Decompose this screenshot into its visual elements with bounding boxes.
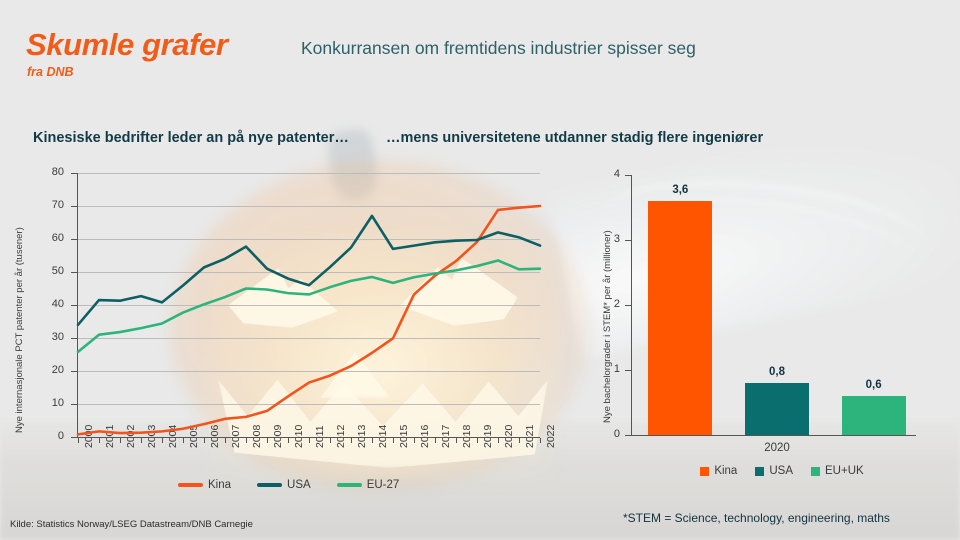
line-chart-y-tick-label: 80 <box>0 166 64 178</box>
line-chart-x-tick <box>183 438 184 443</box>
bar-chart-y-tick-label: 2 <box>596 298 620 310</box>
brand-subtitle: fra DNB <box>27 65 74 79</box>
line-chart-x-tick <box>351 438 352 443</box>
line-chart-y-tick-label: 50 <box>0 265 64 277</box>
line-series-usa <box>78 216 540 325</box>
line-chart-x-tick <box>78 438 79 443</box>
line-chart-x-tick <box>456 438 457 443</box>
line-chart-x-tick <box>99 438 100 443</box>
line-chart-x-tick <box>498 438 499 443</box>
line-chart-x-tick <box>141 438 142 443</box>
bar-value-label: 3,6 <box>648 184 712 196</box>
line-chart-x-tick <box>246 438 247 443</box>
bar-chart-legend: KinaUSAEU+UK <box>632 465 932 477</box>
line-legend-item-usa[interactable]: USA <box>257 479 311 491</box>
legend-swatch-icon <box>811 467 820 476</box>
legend-label: USA <box>287 479 311 491</box>
bar-chart-y-tick-label: 1 <box>596 363 620 375</box>
legend-label: USA <box>769 465 793 477</box>
bar-chart-plot-area: 3,60,80,6 <box>632 175 922 435</box>
line-chart-y-tick-label: 70 <box>0 199 64 211</box>
line-chart-x-tick <box>540 438 541 443</box>
line-chart-y-tick-label: 10 <box>0 397 64 409</box>
bar-chart-y-tick-label: 4 <box>596 168 620 180</box>
line-chart-x-tick <box>225 438 226 443</box>
line-legend-item-eu-27[interactable]: EU-27 <box>337 479 400 491</box>
bar-chart-category-label: 2020 <box>632 442 922 454</box>
bar-chart-y-tick-label: 3 <box>596 233 620 245</box>
bar-kina[interactable] <box>648 201 712 435</box>
line-chart-x-tick <box>372 438 373 443</box>
legend-label: EU-27 <box>367 479 400 491</box>
bar-usa[interactable] <box>745 383 809 435</box>
line-chart-legend: KinaUSAEU-27 <box>178 479 399 491</box>
legend-swatch-icon <box>178 483 203 487</box>
line-chart-x-tick <box>414 438 415 443</box>
line-chart-x-tick <box>519 438 520 443</box>
line-chart-x-tick <box>162 438 163 443</box>
bar-chart-y-tick-label: 0 <box>596 428 620 440</box>
line-legend-item-kina[interactable]: Kina <box>178 479 231 491</box>
bar-value-label: 0,6 <box>842 379 906 391</box>
line-chart-y-tick-label: 30 <box>0 331 64 343</box>
line-series-eu-27 <box>78 260 540 351</box>
line-chart-x-tick <box>393 438 394 443</box>
bar-eu-uk[interactable] <box>842 396 906 435</box>
patents-line-chart: Nye internasjonale PCT patenter per år (… <box>0 165 560 515</box>
line-chart-x-tick <box>309 438 310 443</box>
bar-legend-item-eu+uk[interactable]: EU+UK <box>811 465 864 477</box>
bar-value-label: 0,8 <box>745 366 809 378</box>
stem-degrees-bar-chart: Nye bachelorgrader i STEM* per år (milli… <box>596 165 960 515</box>
bar-legend-item-usa[interactable]: USA <box>755 465 793 477</box>
legend-swatch-icon <box>337 483 362 487</box>
line-chart-x-tick <box>267 438 268 443</box>
legend-label: Kina <box>714 465 737 477</box>
header-tagline: Konkurransen om fremtidens industrier sp… <box>301 38 696 59</box>
line-chart-x-axis-line <box>77 437 540 438</box>
legend-label: Kina <box>208 479 231 491</box>
legend-swatch-icon <box>700 467 709 476</box>
line-chart-series-svg <box>78 173 540 437</box>
line-chart-x-tick <box>477 438 478 443</box>
source-note: Kilde: Statistics Norway/LSEG Datastream… <box>10 519 253 530</box>
line-chart-y-tick-label: 60 <box>0 232 64 244</box>
line-chart-x-tick <box>288 438 289 443</box>
bar-legend-item-kina[interactable]: Kina <box>700 465 737 477</box>
subheading-left: Kinesiske bedrifter leder an på nye pate… <box>33 130 349 146</box>
line-chart-y-tick-label: 0 <box>0 430 64 442</box>
bar-chart-x-axis-line <box>631 435 916 436</box>
subheading-right: …mens universitetene utdanner stadig fle… <box>386 130 763 146</box>
line-chart-x-tick <box>204 438 205 443</box>
line-chart-x-tick <box>330 438 331 443</box>
line-chart-x-tick <box>120 438 121 443</box>
legend-label: EU+UK <box>825 465 864 477</box>
legend-swatch-icon <box>755 467 764 476</box>
line-chart-y-tick-label: 40 <box>0 298 64 310</box>
bar-chart-y-axis-title: Nye bachelorgrader i STEM* per år (milli… <box>602 230 613 423</box>
line-chart-y-tick-label: 20 <box>0 364 64 376</box>
stem-footnote: *STEM = Science, technology, engineering… <box>623 511 890 525</box>
legend-swatch-icon <box>257 483 282 487</box>
line-chart-x-tick <box>435 438 436 443</box>
brand-title: Skumle grafer <box>26 27 228 63</box>
line-chart-x-tick-label: 2022 <box>545 425 557 448</box>
